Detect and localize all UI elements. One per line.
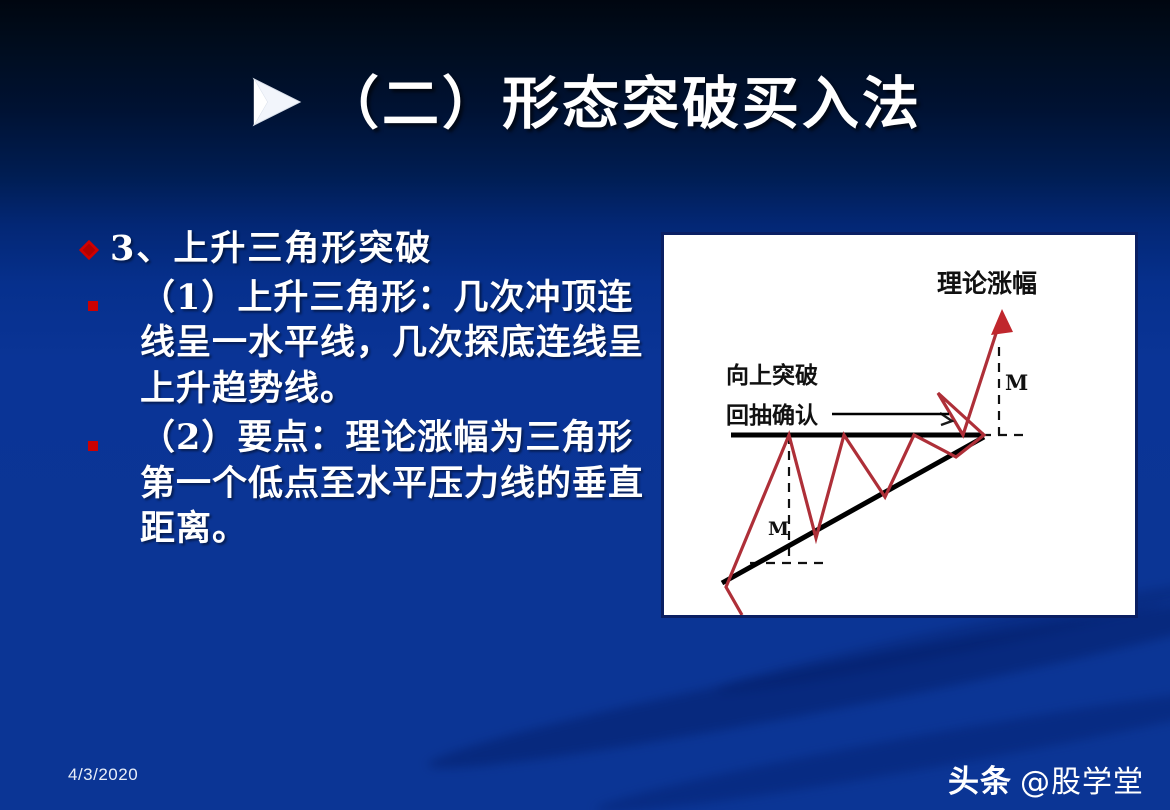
upward-breakout-label: 向上突破 xyxy=(726,362,818,389)
ascending-triangle-chart: 理论涨幅 向上突破 回抽确认 M M xyxy=(661,232,1138,618)
body-heading-row: 3、上升三角形突破 xyxy=(78,228,658,271)
red-diamond-bullet-icon xyxy=(78,239,100,261)
slide: （二）形态突破买入法 3、上升三角形突破 （1）上升三角形：几次冲顶连线呈一水平… xyxy=(0,0,1170,810)
red-square-bullet-icon xyxy=(78,301,108,311)
slide-date: 4/3/2020 xyxy=(68,765,138,785)
measure-lower-label: M xyxy=(768,518,789,540)
body-point-1-text: （1）上升三角形：几次冲顶连线呈一水平线，几次探底连线呈上升趋势线。 xyxy=(112,275,658,412)
body-heading-text: 3、上升三角形突破 xyxy=(110,228,432,271)
watermark-brand: 头条 xyxy=(948,756,1012,801)
price-zigzag-line xyxy=(726,315,1002,615)
watermark: 头条 @股学堂 xyxy=(948,756,1144,801)
watermark-handle: @股学堂 xyxy=(1020,757,1144,801)
body-content: 3、上升三角形突破 （1）上升三角形：几次冲顶连线呈一水平线，几次探底连线呈上升… xyxy=(78,228,658,556)
body-point-2-text: （2）要点：理论涨幅为三角形第一个低点至水平压力线的垂直距离。 xyxy=(112,415,658,552)
arrow-right-triangle-icon xyxy=(248,73,306,131)
measure-upper-label: M xyxy=(1005,370,1028,395)
ascending-trendline xyxy=(722,437,984,583)
pullback-confirm-label: 回抽确认 xyxy=(726,403,818,429)
body-point-2-row: （2）要点：理论涨幅为三角形第一个低点至水平压力线的垂直距离。 xyxy=(78,415,658,552)
breakout-arrow-head-icon xyxy=(991,309,1013,335)
chart-canvas: 理论涨幅 向上突破 回抽确认 M M xyxy=(664,235,1135,615)
red-square-bullet-icon xyxy=(78,441,108,451)
theoretical-gain-label: 理论涨幅 xyxy=(937,269,1037,298)
page-title: （二）形态突破买入法 xyxy=(322,58,922,140)
body-point-1-row: （1）上升三角形：几次冲顶连线呈一水平线，几次探底连线呈上升趋势线。 xyxy=(78,275,658,412)
slide-title-row: （二）形态突破买入法 xyxy=(0,58,1170,140)
